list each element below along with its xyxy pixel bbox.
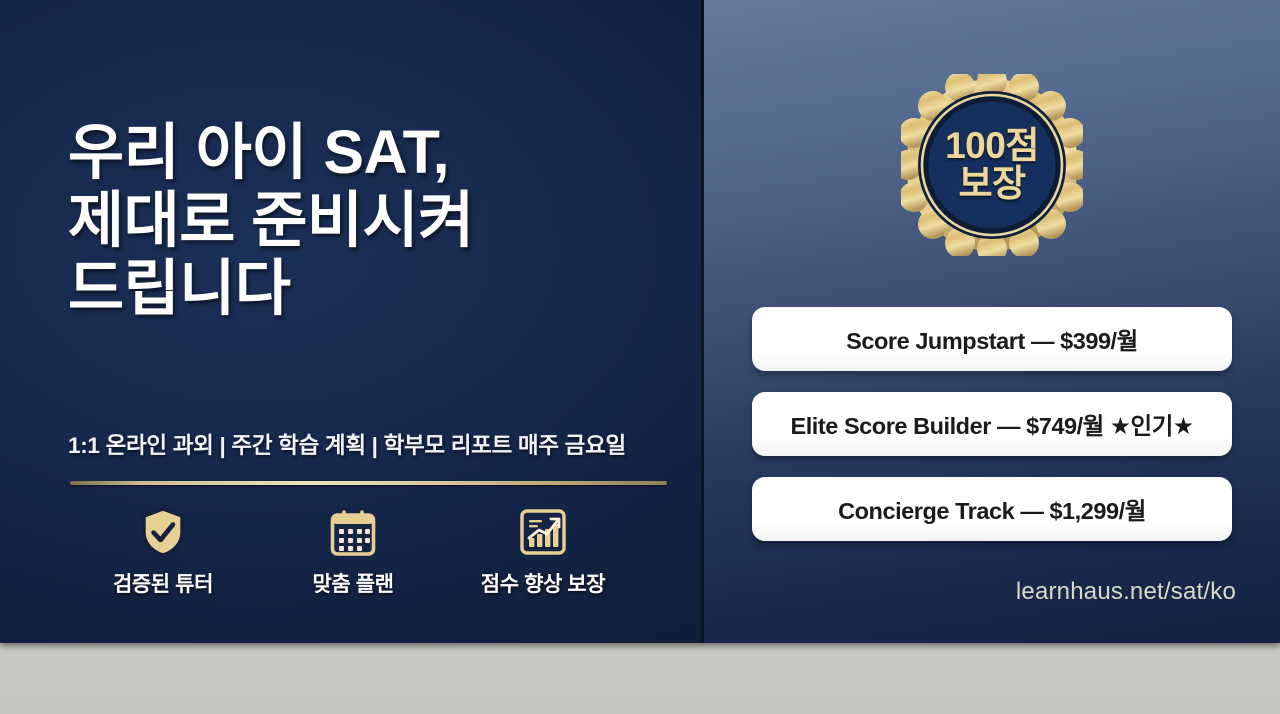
headline: 우리 아이 SAT, 제대로 준비시켜 드립니다 bbox=[68, 118, 688, 322]
bar-chart-growth-icon bbox=[448, 505, 638, 559]
feature-label: 점수 향상 보장 bbox=[448, 568, 638, 598]
plan-card-elite-score-builder[interactable]: Elite Score Builder — $749/월 ★인기★ bbox=[752, 392, 1232, 456]
right-panel: 100점 보장 Score Jumpstart — $399/월 Elite S… bbox=[704, 0, 1280, 643]
subheadline: 1:1 온라인 과외 | 주간 학습 계획 | 학부모 리포트 매주 금요일 bbox=[68, 428, 688, 460]
feature-item-verified-tutor: 검증된 튜터 bbox=[68, 505, 258, 598]
feature-label: 맞춤 플랜 bbox=[258, 568, 448, 598]
feature-item-custom-plan: 맞춤 플랜 bbox=[258, 505, 448, 598]
scene-background: 우리 아이 SAT, 제대로 준비시켜 드립니다 1:1 온라인 과외 | 주간… bbox=[0, 0, 1280, 714]
plan-card-concierge-track[interactable]: Concierge Track — $1,299/월 bbox=[752, 477, 1232, 541]
gold-seal-badge-icon: 100점 보장 bbox=[901, 74, 1083, 256]
feature-row: 검증된 튜터 bbox=[68, 505, 668, 598]
gold-divider bbox=[70, 481, 667, 485]
feature-item-score-guarantee: 점수 향상 보장 bbox=[448, 505, 638, 598]
website-url[interactable]: learnhaus.net/sat/ko bbox=[1016, 578, 1236, 606]
poster: 우리 아이 SAT, 제대로 준비시켜 드립니다 1:1 온라인 과외 | 주간… bbox=[0, 0, 1280, 643]
plan-card-score-jumpstart[interactable]: Score Jumpstart — $399/월 bbox=[752, 307, 1232, 371]
feature-label: 검증된 튜터 bbox=[68, 568, 258, 598]
shield-check-icon bbox=[68, 505, 258, 559]
left-panel: 우리 아이 SAT, 제대로 준비시켜 드립니다 1:1 온라인 과외 | 주간… bbox=[0, 0, 704, 643]
calendar-icon bbox=[258, 505, 448, 559]
plan-card-list: Score Jumpstart — $399/월 Elite Score Bui… bbox=[752, 307, 1232, 541]
